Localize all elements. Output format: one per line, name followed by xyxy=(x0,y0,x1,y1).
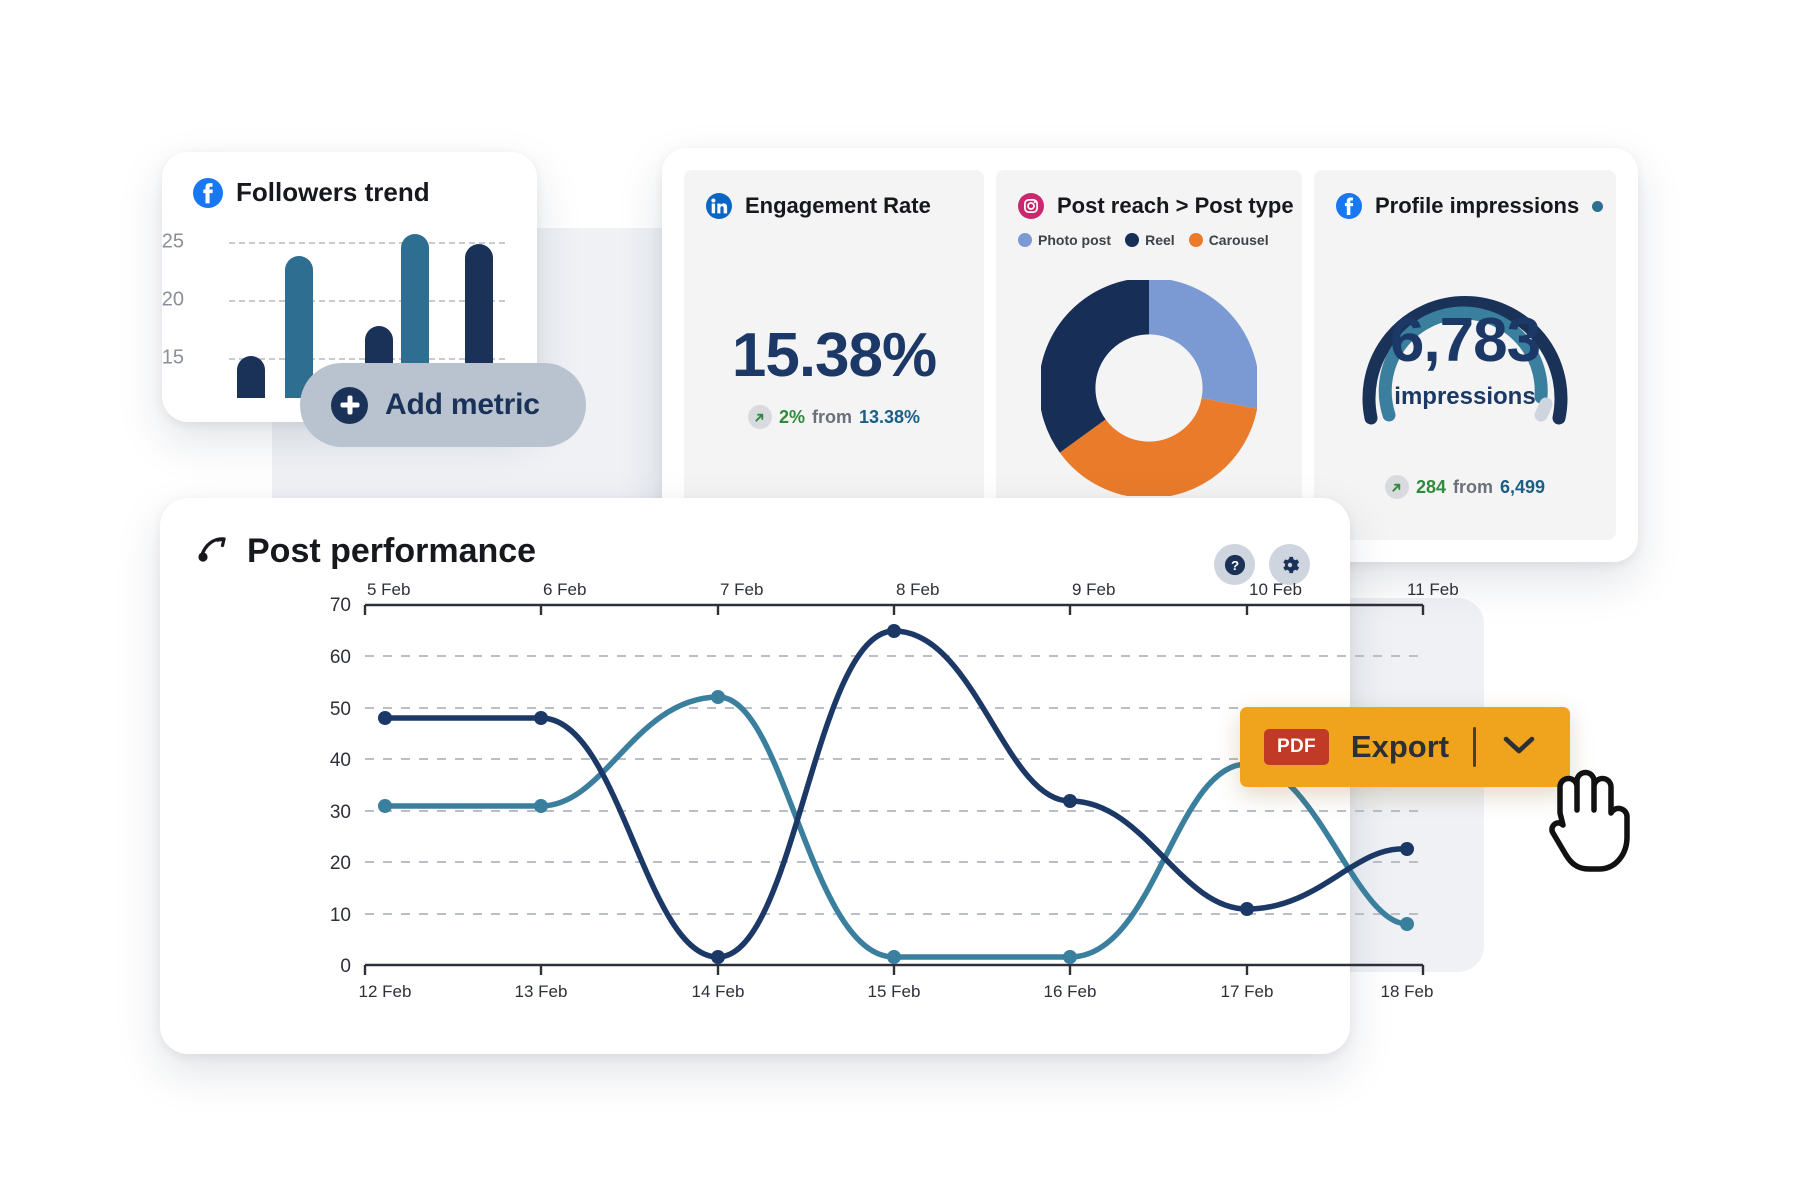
bottom-axis-tick-5: 17 Feb xyxy=(1221,982,1274,1001)
arrow-up-right-icon xyxy=(1385,475,1409,499)
engagement-rate-delta: 2% from 13.38% xyxy=(684,405,984,429)
legend-label-carousel: Carousel xyxy=(1209,232,1269,248)
followers-ytick-25: 25 xyxy=(162,231,184,254)
followers-trend-header: Followers trend xyxy=(193,177,430,208)
followers-bar-2 xyxy=(285,256,313,398)
add-metric-button[interactable]: Add metric xyxy=(300,363,586,447)
bottom-axis-tick-2: 14 Feb xyxy=(692,982,745,1001)
top-axis-tick-0: 5 Feb xyxy=(367,580,410,599)
y-tick-20: 20 xyxy=(330,853,351,874)
engagement-rate-panel: Engagement Rate 15.38% 2% from 13.38% xyxy=(684,170,984,540)
status-dot-icon xyxy=(1592,201,1603,212)
followers-ytick-15: 15 xyxy=(162,347,184,370)
top-axis-tick-1: 6 Feb xyxy=(543,580,586,599)
dashboard-stage: Followers trend 25 20 15 Add metric xyxy=(0,0,1800,1200)
engagement-rate-previous: 13.38% xyxy=(859,407,920,428)
bottom-axis-tick-1: 13 Feb xyxy=(515,982,568,1001)
hand-pointer-icon xyxy=(1540,765,1640,878)
engagement-rate-title: Engagement Rate xyxy=(745,193,931,219)
post-reach-donut-chart xyxy=(1041,280,1257,496)
post-reach-header: Post reach > Post type xyxy=(1018,193,1294,219)
post-performance-card: Post performance ? xyxy=(160,498,1350,1054)
plus-circle-icon xyxy=(331,387,368,424)
chevron-down-icon[interactable] xyxy=(1502,734,1536,761)
followers-bar-1 xyxy=(237,356,265,398)
bottom-axis-tick-0: 12 Feb xyxy=(359,982,412,1001)
linkedin-icon xyxy=(706,193,732,219)
engagement-rate-value: 15.38% xyxy=(684,320,984,391)
y-tick-70: 70 xyxy=(330,595,351,616)
engagement-rate-header: Engagement Rate xyxy=(706,193,931,219)
legend-item-carousel: Carousel xyxy=(1189,232,1269,248)
top-axis-tick-6: 11 Feb xyxy=(1407,580,1459,599)
profile-impressions-panel: Profile impressions 6,783 impressions xyxy=(1314,170,1616,540)
y-tick-0: 0 xyxy=(340,956,351,977)
export-label: Export xyxy=(1351,729,1449,765)
legend-dot-photo-post xyxy=(1018,233,1032,247)
y-tick-10: 10 xyxy=(330,905,351,926)
legend-dot-carousel xyxy=(1189,233,1203,247)
export-button[interactable]: PDF Export xyxy=(1240,707,1570,787)
post-performance-chart: 5 Feb 6 Feb 7 Feb 8 Feb 9 Feb 10 Feb 11 … xyxy=(365,573,1475,1013)
post-performance-title: Post performance xyxy=(247,532,536,571)
legend-dot-reel xyxy=(1125,233,1139,247)
profile-impressions-delta-value: 284 xyxy=(1416,477,1446,498)
post-reach-title: Post reach > Post type xyxy=(1057,193,1294,219)
legend-item-reel: Reel xyxy=(1125,232,1175,248)
facebook-icon xyxy=(193,178,223,208)
y-tick-30: 30 xyxy=(330,802,351,823)
engagement-rate-delta-value: 2% xyxy=(779,407,805,428)
facebook-icon xyxy=(1336,193,1362,219)
profile-impressions-delta-from: from xyxy=(1453,477,1493,498)
top-axis-tick-4: 9 Feb xyxy=(1072,580,1115,599)
top-axis-tick-3: 8 Feb xyxy=(896,580,939,599)
arrow-up-right-icon xyxy=(748,405,772,429)
followers-ytick-20: 20 xyxy=(162,289,184,312)
legend-label-photo-post: Photo post xyxy=(1038,232,1111,248)
y-tick-40: 40 xyxy=(330,750,351,771)
bottom-axis-tick-4: 16 Feb xyxy=(1044,982,1097,1001)
profile-impressions-title: Profile impressions xyxy=(1375,193,1579,219)
post-performance-header: Post performance xyxy=(195,532,536,571)
followers-trend-title: Followers trend xyxy=(236,177,430,208)
legend-label-reel: Reel xyxy=(1145,232,1175,248)
engagement-rate-delta-from: from xyxy=(812,407,852,428)
post-reach-panel: Post reach > Post type Photo post Reel C… xyxy=(996,170,1302,540)
bottom-axis-tick-6: 18 Feb xyxy=(1381,982,1434,1001)
pdf-badge: PDF xyxy=(1264,729,1329,765)
post-reach-legend: Photo post Reel Carousel xyxy=(1018,232,1269,248)
y-tick-50: 50 xyxy=(330,699,351,720)
add-metric-label: Add metric xyxy=(385,388,540,422)
profile-impressions-previous: 6,499 xyxy=(1500,477,1545,498)
profile-impressions-header: Profile impressions xyxy=(1336,193,1603,219)
export-divider xyxy=(1473,727,1476,767)
svg-text:?: ? xyxy=(1230,557,1238,572)
bottom-axis-tick-3: 15 Feb xyxy=(868,982,921,1001)
top-axis-tick-5: 10 Feb xyxy=(1249,580,1302,599)
top-axis-tick-2: 7 Feb xyxy=(720,580,763,599)
profile-impressions-value: 6,783 xyxy=(1314,305,1616,376)
trend-line-icon xyxy=(195,532,229,571)
legend-item-photo-post: Photo post xyxy=(1018,232,1111,248)
y-tick-60: 60 xyxy=(330,647,351,668)
instagram-icon xyxy=(1018,193,1044,219)
profile-impressions-delta: 284 from 6,499 xyxy=(1314,475,1616,499)
profile-impressions-unit: impressions xyxy=(1314,383,1616,411)
